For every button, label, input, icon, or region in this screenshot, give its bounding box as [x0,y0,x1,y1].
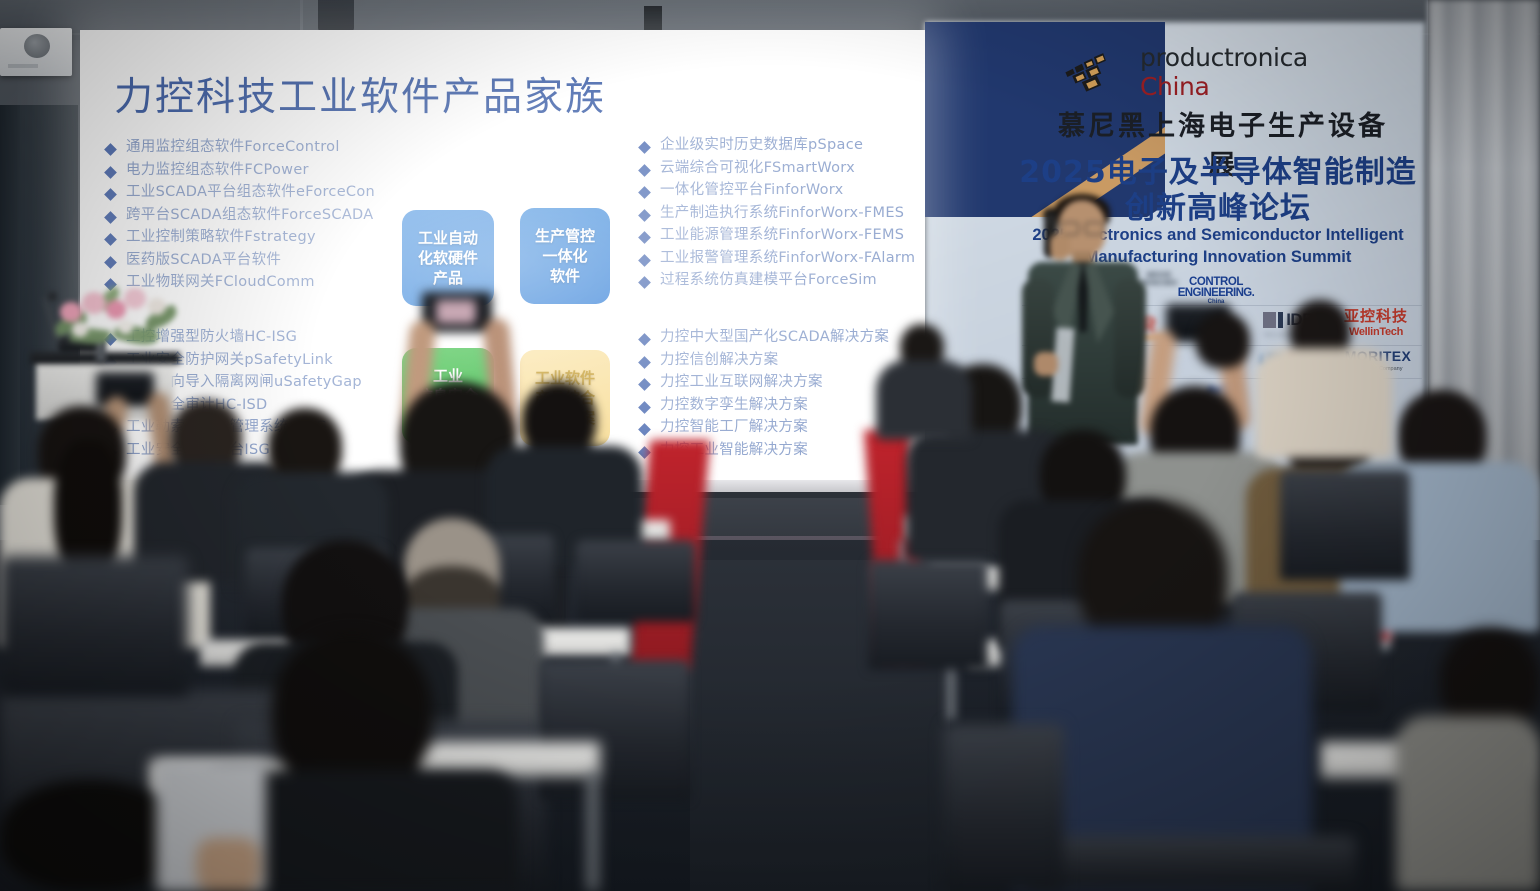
list-item: 工业控制策略软件Fstrategy [106,230,426,245]
list-item: 跨平台SCADA组态软件ForceSCADA [106,208,426,223]
seat [540,660,690,800]
attendee-hand [196,838,260,891]
productronica-wordmark: productronica China [1140,43,1382,101]
slide-title: 力控科技工业软件产品家族 [114,66,606,122]
diamond-bullet-icon [104,233,117,246]
left-wall-recess-shadow [0,105,20,505]
list-item-label: 力控工业互联网解决方案 [660,375,823,390]
desk-leg [588,772,598,891]
seat [1026,836,1356,891]
speaker-vent [8,64,38,68]
attendee-torso-check [1256,348,1392,458]
diamond-bullet-icon [638,254,651,267]
control-engineering-china-logo: CONTROL ENGINEERING. China [1168,277,1264,305]
list-item-label: 工业能源管理系统FinforWorx-FEMS [660,228,904,243]
list-item-label: 生产制造执行系统FinforWorx-FMES [660,206,904,221]
wall-speaker-unit [0,28,72,76]
diamond-bullet-icon [104,166,117,179]
backdrop-main-title-line1: 2025电子及半导体智能制造 [1018,155,1418,191]
list-item: 力控中大型国产化SCADA解决方案 [640,330,925,345]
diamond-bullet-icon [638,209,651,222]
list-item: 力控信创解决方案 [640,353,925,368]
presenter-arm-right [1114,278,1146,398]
list-item-label: 工业报警管理系统FinforWorx-FAlarm [660,251,915,266]
diamond-bullet-icon [104,211,117,224]
presenter-hand-lower [1034,352,1058,376]
list-item-label: 一体化管控平台FinforWorx [660,183,844,198]
attendee-torso-grey [1396,716,1540,891]
slide-list-right-top: 企业级实时历史数据库pSpace 云端综合可视化FSmartWorx 一体化管控… [640,138,925,296]
list-item: 企业级实时历史数据库pSpace [640,138,925,153]
list-item-label: 力控信创解决方案 [660,353,778,368]
list-item-label: 力控数字孪生解决方案 [660,398,808,413]
diamond-bullet-icon [638,186,651,199]
diamond-bullet-icon [104,256,117,269]
list-item: 通用监控组态软件ForceControl [106,140,426,155]
list-item-label: 通用监控组态软件ForceControl [126,140,340,155]
projector-body [644,6,662,32]
diamond-bullet-icon [638,141,651,154]
presenter-glasses-icon [1060,222,1104,233]
list-item: 工业报警管理系统FinforWorx-FAlarm [640,251,925,266]
list-item: 云端综合可视化FSmartWorx [640,161,925,176]
presenter-arm-left [1022,278,1054,398]
list-item: 工业SCADA平台组态软件eForceCon [106,185,426,200]
idec-bar-icon [1278,312,1283,328]
seat [944,724,1064,891]
presenter-hand-holding-mic [1050,234,1070,260]
diamond-bullet-icon [638,231,651,244]
ce-line2: ENGINEERING. [1168,288,1264,299]
list-item-label: 医药版SCADA平台软件 [126,253,281,268]
idec-square-icon [1263,312,1276,328]
chip-b-label: 生产管控 一体化 软件 [535,226,595,286]
seat [868,560,988,670]
list-item-label: 云端综合可视化FSmartWorx [660,161,855,176]
list-item: 工业能源管理系统FinforWorx-FEMS [640,228,925,243]
list-item-label: 过程系统仿真建模平台ForceSim [660,273,877,288]
list-item: 过程系统仿真建模平台ForceSim [640,273,925,288]
diamond-bullet-icon [638,401,651,414]
list-item-label: 工业控制策略软件Fstrategy [126,230,316,245]
productronica-word: productronica [1140,43,1308,72]
seat [576,540,696,622]
smartphone-screen [436,300,476,324]
list-item-label: 工业SCADA平台组态软件eForceCon [126,185,375,200]
list-item: 生产制造执行系统FinforWorx-FMES [640,206,925,221]
list-item: 一体化管控平台FinforWorx [640,183,925,198]
productronica-logo-mark-icon [1062,52,1130,92]
list-item: 电力监控组态软件FCPower [106,163,426,178]
slide-chip-production-control: 生产管控 一体化 软件 [520,208,610,304]
slide-list-left-top: 通用监控组态软件ForceControl 电力监控组态软件FCPower 工业S… [106,140,426,298]
chip-a-label: 工业自动 化软硬件 产品 [418,228,478,288]
diamond-bullet-icon [104,188,117,201]
diamond-bullet-icon [638,356,651,369]
list-item-label: 跨平台SCADA组态软件ForceSCADA [126,208,374,223]
china-word: China [1140,72,1209,101]
diamond-bullet-icon [104,143,117,156]
seat [0,556,188,696]
list-item-label: 电力监控组态软件FCPower [126,163,309,178]
ceiling-projector-mount [318,0,354,32]
attendee-head [0,780,180,891]
list-item: 医药版SCADA平台软件 [106,253,426,268]
diamond-bullet-icon [638,378,651,391]
seat [1280,470,1410,580]
productronica-logo: productronica China [1062,50,1382,94]
diamond-bullet-icon [638,423,651,436]
list-item-label: 企业级实时历史数据库pSpace [660,138,863,153]
flower-arrangement [52,282,182,354]
speaker-driver-icon [24,34,50,58]
diamond-bullet-icon [638,333,651,346]
presenter [1022,200,1147,445]
list-item-label: 力控智能工厂解决方案 [660,420,808,435]
diamond-bullet-icon [638,276,651,289]
list-item-label: 力控中大型国产化SCADA解决方案 [660,330,889,345]
diamond-bullet-icon [638,164,651,177]
conference-photo-scene: productronica China 慕尼黑上海电子生产设备展 2025电子及… [0,0,1540,891]
attendee-torso [876,360,972,440]
attendee-head [1196,312,1250,368]
